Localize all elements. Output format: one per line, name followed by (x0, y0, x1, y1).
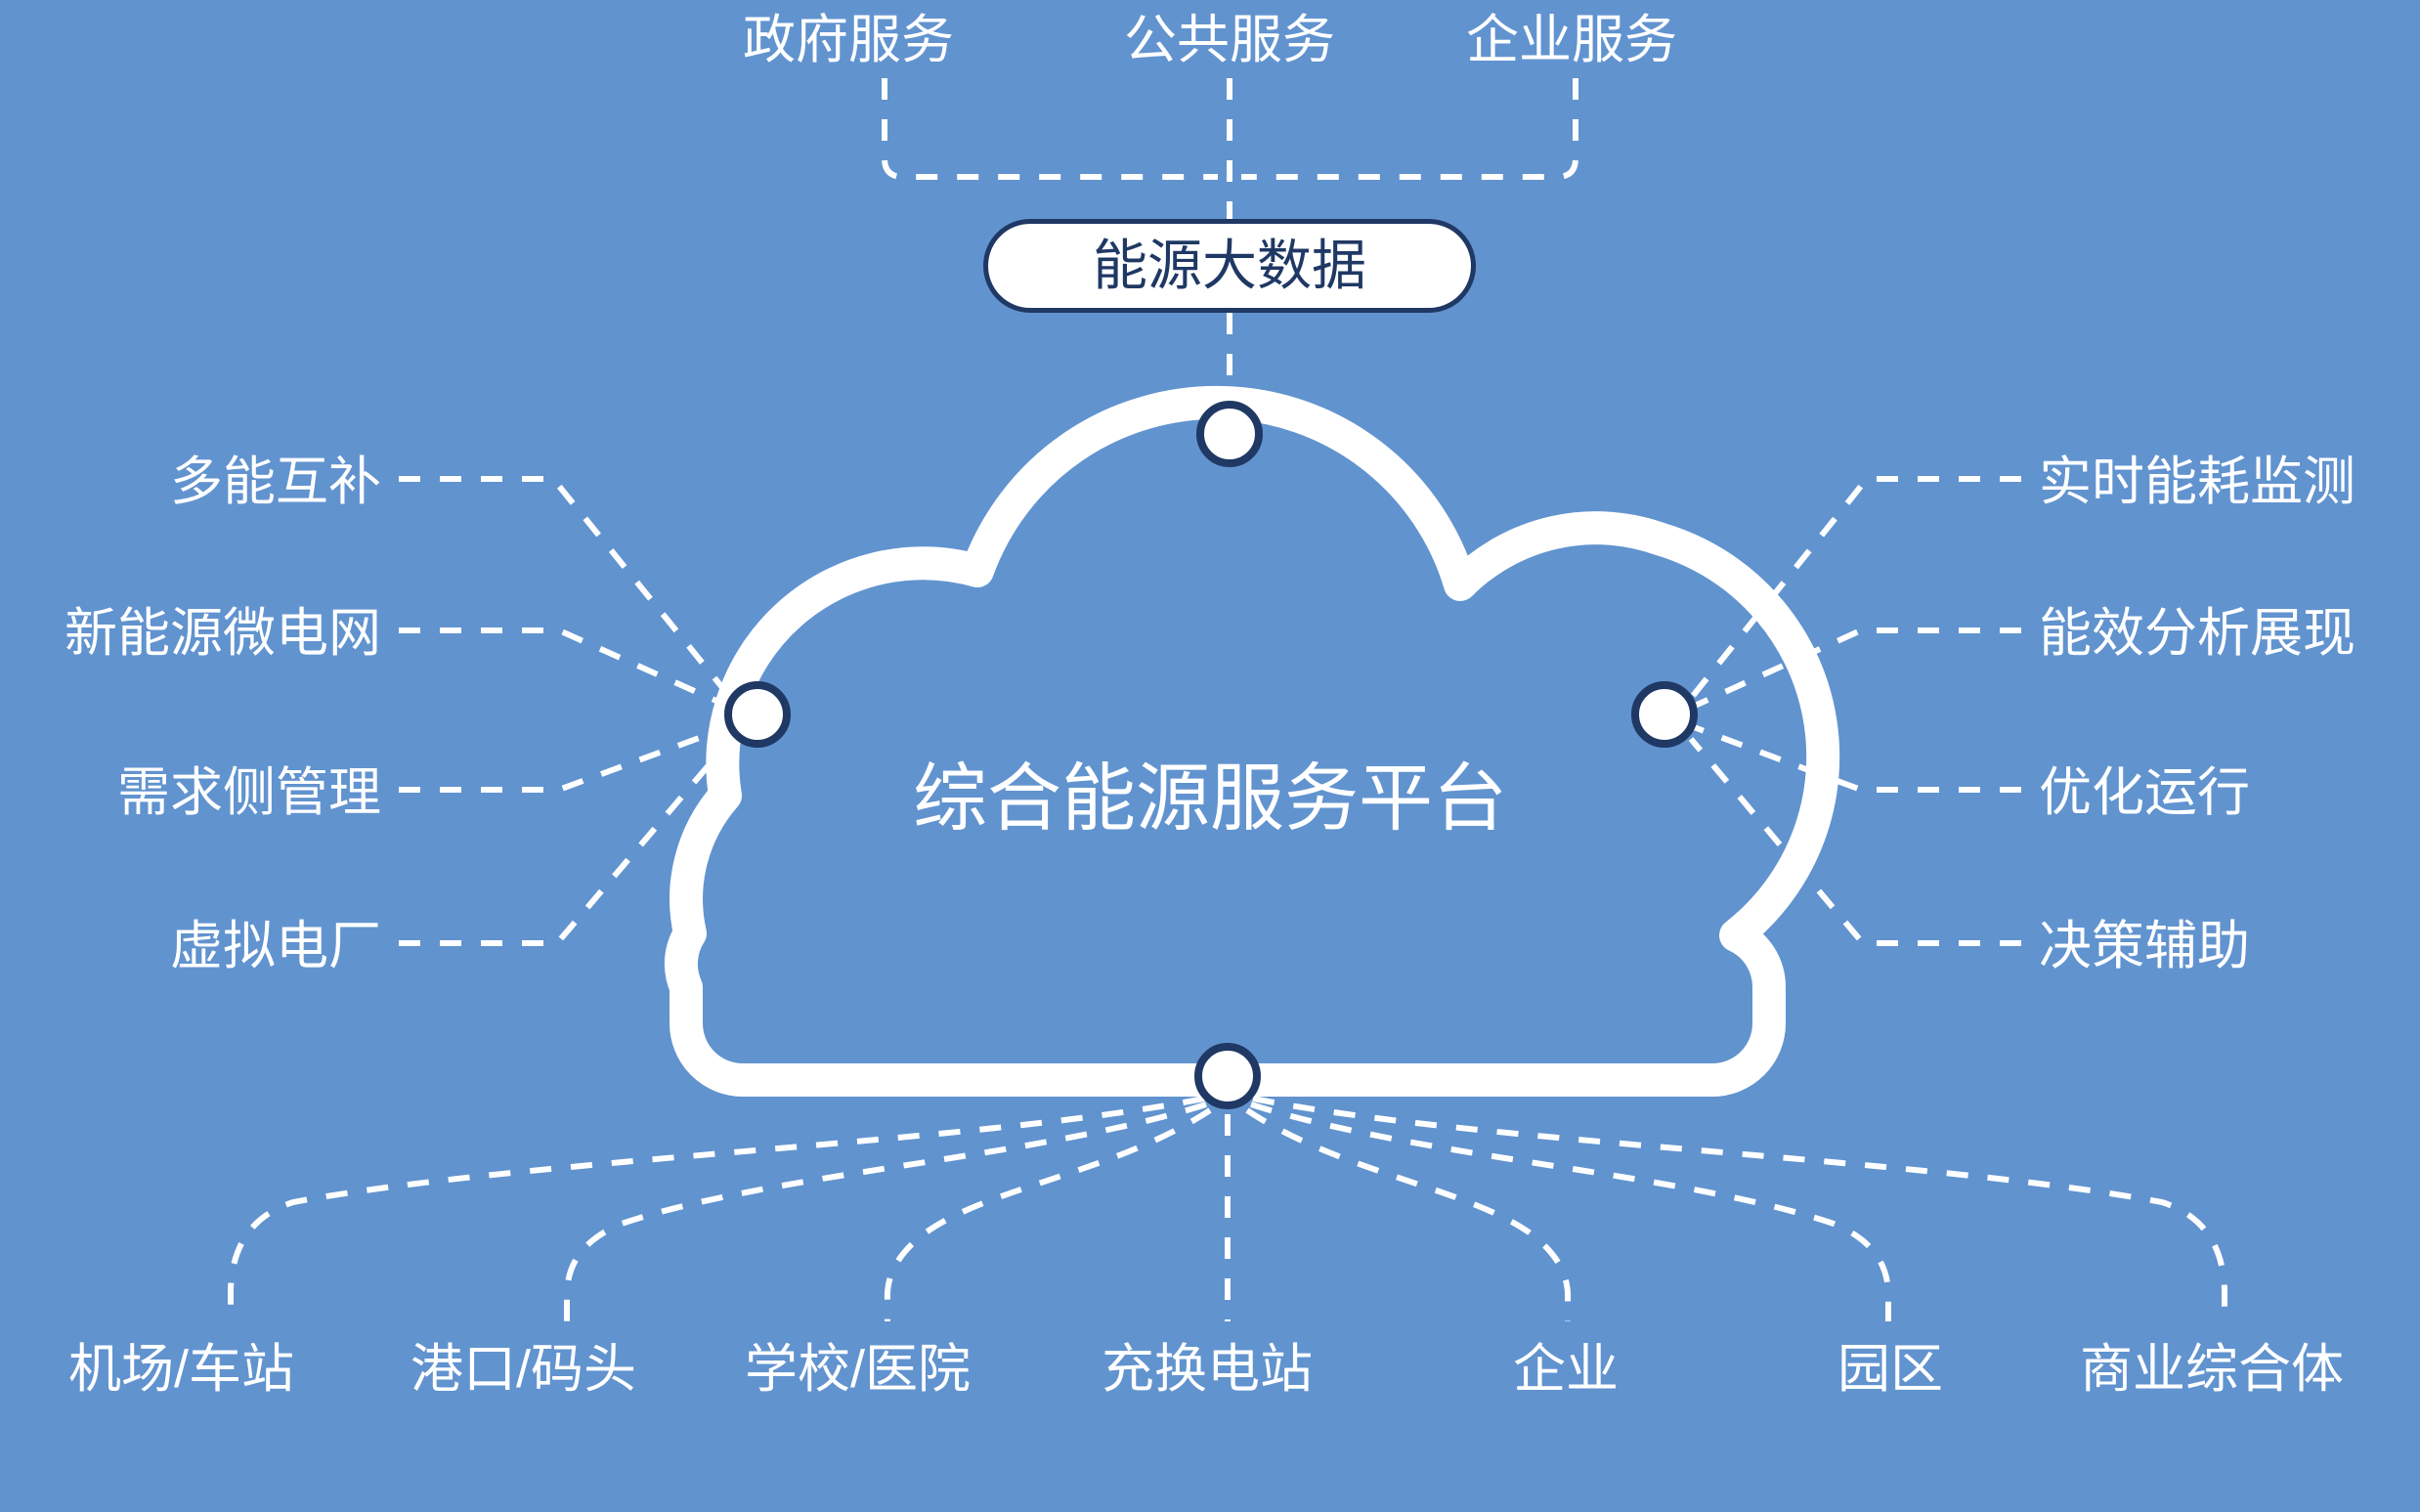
bottom-node[interactable] (1198, 1047, 1257, 1105)
energy-big-data-pill[interactable]: 能源大数据 (983, 219, 1476, 313)
bottom-scenario-airport-station[interactable]: 机场/车站 (68, 1343, 294, 1396)
bottom-connector-1 (231, 1099, 1204, 1321)
bottom-scenario-commercial-complex[interactable]: 商业综合体 (2080, 1343, 2344, 1396)
bottom-connectors (231, 1099, 2225, 1321)
bottom-scenario-industrial-park[interactable]: 园区 (1837, 1343, 1943, 1396)
bottom-scenario-school-hospital[interactable]: 学校/医院 (745, 1343, 971, 1396)
left-connector-3 (399, 727, 728, 790)
bottom-scenario-port-dock[interactable]: 港口/码头 (411, 1343, 636, 1396)
bottom-scenario-charging-station[interactable]: 充换电站 (1102, 1343, 1313, 1396)
top-service-label-enterprise[interactable]: 企业服务 (1466, 14, 1677, 66)
left-capability-multi-energy[interactable]: 多能互补 (0, 455, 381, 508)
left-connector-2 (399, 630, 727, 706)
bottom-connector-3 (887, 1110, 1210, 1321)
right-connector-2 (1695, 630, 2021, 706)
bottom-connector-7 (1253, 1099, 2225, 1321)
left-node[interactable] (728, 685, 787, 744)
bottom-connector-5 (1247, 1110, 1568, 1321)
top-connector-left (885, 78, 1218, 177)
left-capability-demand-side[interactable]: 需求侧管理 (0, 766, 381, 819)
right-capability-optimized-operation[interactable]: 优化运行 (2039, 766, 2250, 819)
right-capability-realtime-monitoring[interactable]: 实时能耗监测 (2039, 455, 2355, 508)
left-capability-virtual-plant[interactable]: 虚拟电厂 (0, 920, 381, 972)
right-connectors (1691, 479, 2021, 943)
top-connector-right (1241, 78, 1576, 177)
energy-big-data-label: 能源大数据 (1093, 238, 1366, 293)
diagram-canvas: 政府服务 公共服务 企业服务 能源大数据 多能互补 新能源微电网 需求侧管理 虚… (0, 0, 2420, 1512)
left-capability-microgrid[interactable]: 新能源微电网 (0, 607, 381, 660)
bottom-scenario-enterprise[interactable]: 企业 (1513, 1343, 1619, 1396)
cloud-nodes (728, 405, 1694, 1105)
top-service-label-government[interactable]: 政府服务 (743, 14, 954, 66)
right-connector-3 (1694, 727, 2021, 790)
right-node[interactable] (1635, 685, 1694, 744)
top-service-label-public[interactable]: 公共服务 (1124, 14, 1335, 66)
right-capability-efficiency-analysis[interactable]: 能效分析展现 (2039, 607, 2355, 660)
top-node[interactable] (1200, 405, 1259, 463)
right-capability-decision-support[interactable]: 决策辅助 (2039, 920, 2250, 972)
left-connector-1 (399, 479, 729, 696)
